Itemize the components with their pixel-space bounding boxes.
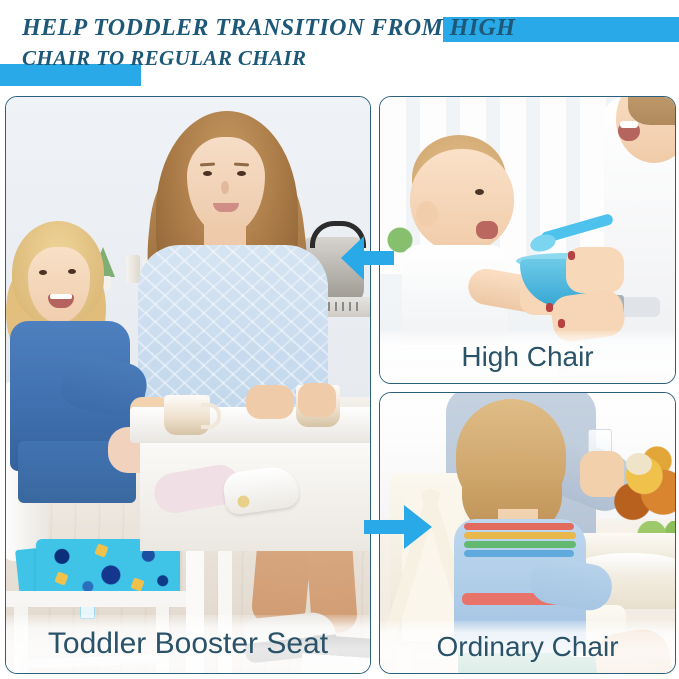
baby-eye	[475, 189, 484, 195]
header: HELP TODDLER TRANSITION FROM HIGH CHAIR …	[0, 0, 679, 88]
autumn-centerpiece	[610, 437, 675, 529]
toddler-teeth	[50, 294, 72, 299]
mother-hand	[298, 383, 336, 417]
sweater-stripe	[464, 550, 574, 557]
arrow-right-icon	[364, 502, 434, 552]
mother-hand	[246, 385, 294, 419]
page-title-line-1: HELP TODDLER TRANSITION FROM HIGH	[22, 14, 515, 42]
caption-band-left: Toddler Booster Seat	[6, 615, 370, 673]
baby-ear	[416, 201, 438, 227]
fingernail	[568, 251, 575, 260]
panel-toddler-booster-seat[interactable]: Toddler Booster Seat	[5, 96, 371, 674]
coffee-cup	[164, 395, 210, 435]
caption-band-bottom-right: Ordinary Chair	[380, 621, 675, 673]
baby-mouth	[476, 221, 498, 239]
sweater-stripe	[464, 532, 576, 539]
page-title-line-2: CHAIR TO REGULAR CHAIR	[22, 46, 306, 71]
photo-toddler-booster-seat	[6, 97, 370, 673]
caption-toddler-booster-seat: Toddler Booster Seat	[48, 627, 328, 661]
mother-eye	[237, 171, 246, 176]
fingernail	[558, 319, 565, 328]
toddler-eye	[68, 269, 76, 274]
caption-ordinary-chair: Ordinary Chair	[436, 631, 618, 663]
sweater-stripe	[464, 541, 576, 548]
caption-high-chair: High Chair	[461, 341, 593, 373]
white-pumpkin	[626, 453, 652, 475]
arrow-left-icon	[338, 232, 394, 284]
sweater-stripe	[464, 523, 574, 530]
mother-eye	[203, 171, 212, 176]
caption-band-top-right: High Chair	[380, 331, 675, 383]
woman-teeth	[620, 121, 638, 128]
fingernail	[546, 303, 553, 312]
toddler-eye	[39, 270, 47, 275]
mother-nose	[221, 181, 229, 194]
infographic-canvas: HELP TODDLER TRANSITION FROM HIGH CHAIR …	[0, 0, 679, 679]
panel-high-chair[interactable]: High Chair	[379, 96, 676, 384]
